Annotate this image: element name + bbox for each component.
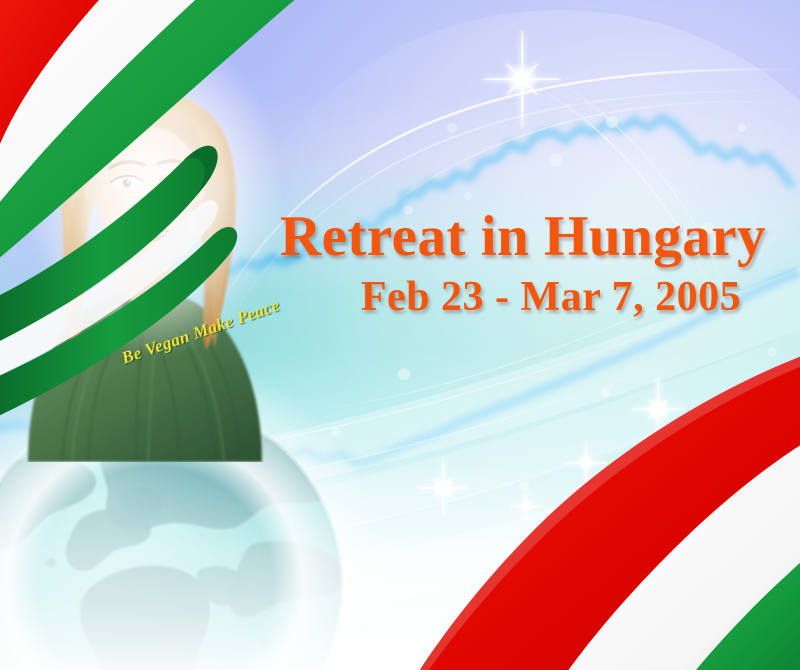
hungary-flag-ribbon-bottom-right [0,0,800,670]
retreat-poster: Be Vegan Make Peace [0,0,800,670]
